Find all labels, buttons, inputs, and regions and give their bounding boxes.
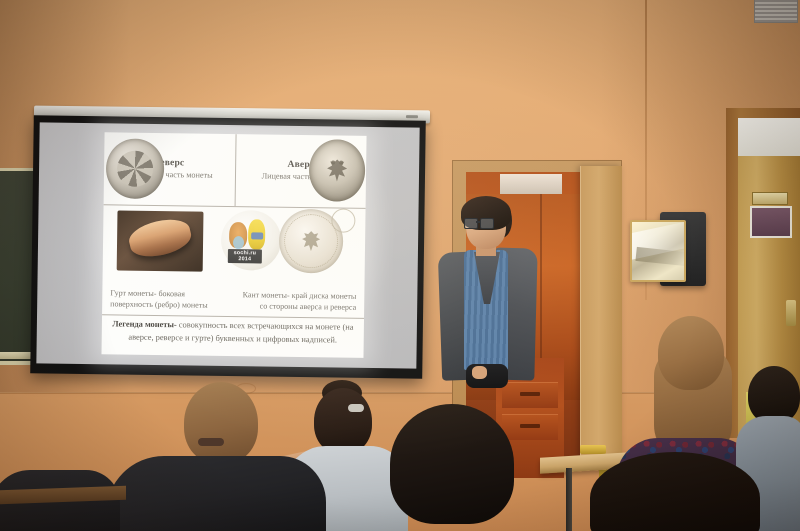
- student-bottom-right: [590, 452, 760, 531]
- student-left-dark-top: [106, 456, 326, 531]
- glasses-lens-left: [464, 218, 478, 229]
- student-front: [372, 404, 532, 531]
- student-bottom-right-head: [590, 452, 760, 531]
- door-nameplate: [752, 192, 788, 205]
- slide-middle-row: sochi.ru 2014 Гурт монеты- боковая повер…: [102, 204, 366, 319]
- glasses-lens-right: [480, 218, 494, 229]
- slide-top-row: Реверс Оборотная часть монеты: [104, 132, 367, 209]
- slide-cell-obverse: Аверс Лицевая часть монеты: [234, 134, 366, 208]
- door-lock-icon[interactable]: [786, 300, 796, 326]
- classroom-scene: Реверс Оборотная часть монеты: [0, 0, 800, 531]
- open-door-leaf[interactable]: [580, 166, 622, 460]
- eagle-emblem-icon: [298, 227, 324, 255]
- doorway-transom-window: [500, 174, 562, 194]
- edge-caption: Гурт монеты- боковая поверхность (ребро)…: [102, 289, 233, 312]
- coin-edge-photo: [117, 210, 204, 271]
- double-headed-eagle-icon: [324, 156, 350, 184]
- coin-outline-icon: [331, 208, 355, 232]
- student-middle-hair-tie: [348, 404, 364, 412]
- presenter-hand: [472, 366, 487, 379]
- reverse-coin-icon: [106, 138, 165, 199]
- screen-pull-knob-icon[interactable]: [406, 115, 418, 118]
- ceiling-vent-grille-icon: [754, 0, 798, 23]
- door-sign: [750, 206, 792, 238]
- right-door-transom-window: [738, 118, 800, 156]
- student-front-head: [390, 404, 514, 524]
- projected-slide: Реверс Оборотная часть монеты: [101, 132, 366, 358]
- student-left: [118, 382, 328, 531]
- roller-projection-screen: Реверс Оборотная часть монеты: [30, 115, 426, 378]
- presenter-hands-holding-object: [466, 364, 508, 388]
- sochi-wordmark: sochi.ru 2014: [228, 249, 262, 263]
- bunny-mascot-icon: [248, 219, 265, 249]
- glasses-icon: [464, 218, 494, 227]
- student-left-head: [184, 382, 258, 464]
- slide-bottom-row: Легенда монеты- совокупность всех встреч…: [101, 314, 364, 358]
- rim-caption: Кант монеты- край диска монеты со сторон…: [233, 290, 364, 313]
- student-right-head: [658, 316, 724, 390]
- sochi-2014-mascot-coin: sochi.ru 2014: [221, 210, 282, 271]
- desk-leg: [566, 468, 572, 531]
- slide-cell-reverse: Реверс Оборотная часть монеты: [104, 132, 235, 206]
- legend-term: Легенда монеты-: [112, 319, 177, 329]
- wall-mounted-monitor[interactable]: [630, 220, 686, 282]
- coin-edge-closeup: [126, 214, 194, 261]
- student-left-hair-tie: [198, 438, 224, 446]
- presenter: [430, 196, 548, 396]
- screen-glare-secondary: [635, 247, 686, 267]
- screen-surface: Реверс Оборотная часть монеты: [36, 122, 419, 368]
- obverse-eagle-coin-icon: [309, 139, 366, 202]
